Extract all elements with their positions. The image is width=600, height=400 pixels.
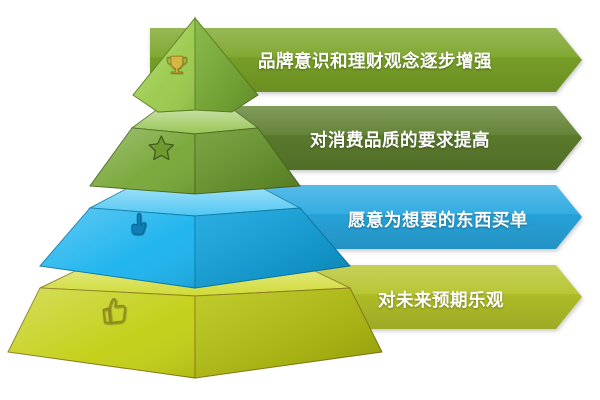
- level-4-left-gloss: [8, 288, 195, 378]
- pyramid-diagram: [0, 0, 600, 400]
- diagram-canvas: 品牌意识和理财观念逐步增强 对消费品质的要求提高 愿意为想要的东西买单 对未来预…: [0, 0, 600, 400]
- level-4-right-gloss: [195, 288, 382, 378]
- level-2-left-gloss: [90, 128, 195, 194]
- level-3-left-gloss: [40, 208, 195, 288]
